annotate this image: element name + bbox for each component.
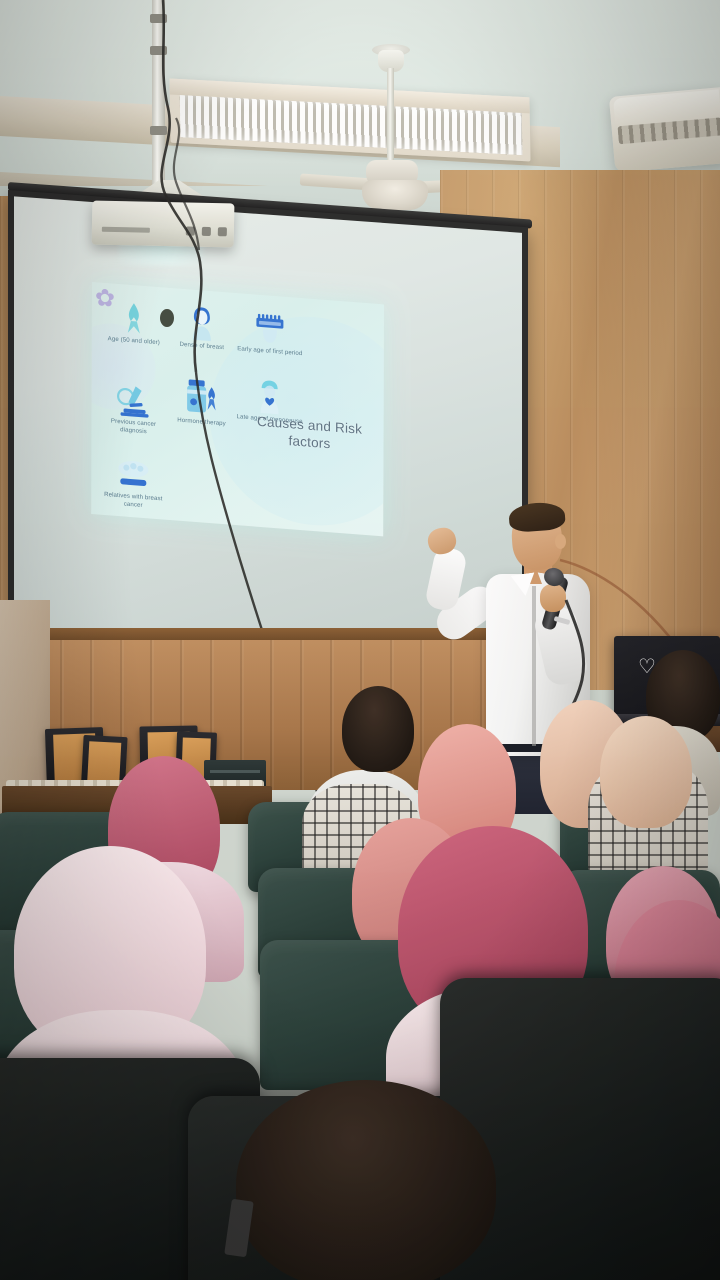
risk-factor-item: Previous cancer diagnosis — [99, 377, 167, 438]
risk-factor-grid: Age (50 and older) Dense of breast — [100, 293, 304, 309]
pipe-collar — [150, 126, 167, 135]
audience-head — [236, 1080, 496, 1280]
pipe-collar — [150, 46, 167, 55]
hijab — [600, 716, 692, 828]
microscope-icon — [100, 377, 168, 420]
projector-port — [202, 227, 211, 236]
projector-port — [186, 226, 195, 235]
calendar-icon — [236, 305, 304, 348]
projector-brand-label — [102, 227, 150, 233]
ceiling-fan — [362, 180, 428, 210]
presentation-slide: ✿ Age (50 and older) — [91, 282, 384, 536]
case-seam — [210, 770, 260, 773]
split-air-conditioner — [609, 87, 720, 172]
projector-mount-pipe — [152, 0, 165, 186]
presenter-mic-hand — [540, 584, 566, 612]
presenter-ear — [555, 534, 566, 549]
projector-port — [218, 227, 227, 236]
risk-factor-label: Previous cancer diagnosis — [99, 417, 167, 438]
risk-factor-item: Relatives with breast cancer — [99, 451, 167, 512]
projector-light-beam — [118, 244, 204, 266]
lecture-hall-photo: ✿ Age (50 and older) — [0, 0, 720, 1280]
pill-bottle-icon — [168, 376, 236, 419]
risk-factor-item: Hormone therapy — [168, 376, 236, 429]
risk-factor-item: Dense of breast — [168, 300, 236, 353]
pipe-collar — [150, 14, 167, 23]
risk-factor-label: Relatives with breast cancer — [99, 491, 167, 512]
shirt-placket — [532, 586, 536, 746]
person-heart-icon — [236, 373, 304, 416]
projector — [92, 201, 235, 248]
woman-figure-icon — [168, 300, 236, 343]
awareness-ribbon-icon — [100, 295, 168, 338]
audience-head — [342, 686, 414, 772]
family-group-icon — [99, 451, 167, 494]
fan-downrod — [387, 68, 394, 164]
risk-factor-item: Early age of first period — [236, 305, 304, 358]
risk-factor-item: Age (50 and older) — [100, 295, 168, 348]
